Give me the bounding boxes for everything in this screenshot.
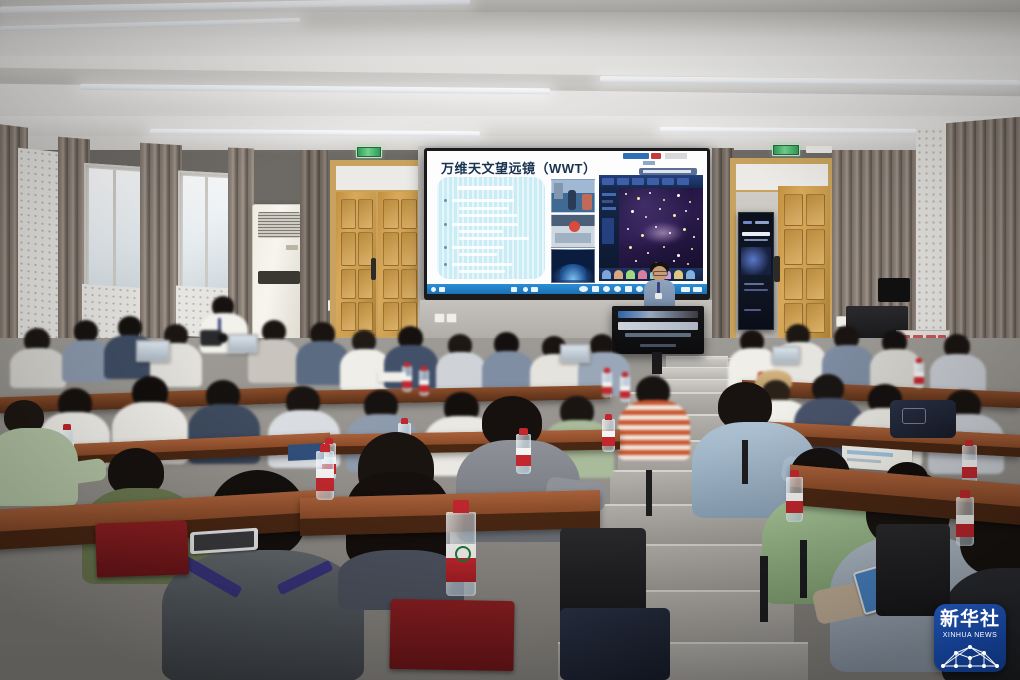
side-monitor <box>878 278 910 302</box>
slide-photo-1 <box>551 179 595 213</box>
window-left-2 <box>178 171 234 296</box>
slide-tag-b <box>651 153 661 159</box>
ceiling-light-right <box>806 146 832 153</box>
person-with-camera <box>200 326 240 352</box>
water-bottle <box>602 414 615 452</box>
speaker-badge <box>655 293 662 299</box>
water-bottle <box>316 444 334 500</box>
ceiling <box>0 0 1020 150</box>
water-bottle-foreground <box>446 500 476 596</box>
door-left-transom <box>336 166 420 190</box>
speaker-glasses <box>653 271 668 276</box>
wwt-side-panel <box>599 188 619 268</box>
slide-title: 万维天文望远镜（WWT） <box>441 158 596 177</box>
watermark-brand-en: XINHUA NEWS <box>943 632 998 639</box>
chair-leg <box>742 440 748 484</box>
exit-sign-left <box>356 146 382 158</box>
exit-sign-right <box>772 144 800 156</box>
chair-leg <box>800 540 807 598</box>
chair-back-dark[interactable] <box>876 524 950 616</box>
window-left-1 <box>84 163 146 296</box>
slide-bullet-box <box>437 177 545 279</box>
laptop[interactable] <box>136 340 170 362</box>
lecture-hall-photo: 万维天文望远镜（WWT） <box>0 0 1020 680</box>
chair-leg <box>646 470 652 516</box>
wwt-starfield <box>619 188 703 268</box>
chair[interactable] <box>389 599 514 671</box>
slide-photo-3 <box>551 249 595 283</box>
chair[interactable] <box>95 520 189 577</box>
xinhua-news-watermark: 新华社 XINHUA NEWS <box>934 604 1006 672</box>
slide-photo-2 <box>551 214 595 248</box>
door-right-handle[interactable] <box>774 256 780 282</box>
water-bottle <box>956 490 974 546</box>
slide-tag-c <box>665 153 687 159</box>
door-left-handle[interactable] <box>371 258 376 280</box>
backpack <box>890 400 956 438</box>
laptop[interactable] <box>772 346 800 364</box>
laptop[interactable] <box>560 344 590 363</box>
person-head <box>74 320 98 342</box>
slide-label-mark <box>643 161 655 165</box>
network-dome-icon <box>939 642 1001 670</box>
water-bottle <box>516 428 531 474</box>
person-torso-striped <box>618 400 690 460</box>
backpack-floor <box>560 608 670 680</box>
slide-subtitle-badge <box>639 168 697 175</box>
chair-leg <box>760 556 768 622</box>
water-bottle <box>786 470 803 522</box>
slide-tag-a <box>623 153 649 159</box>
watermark-brand-cn: 新华社 <box>940 610 1000 629</box>
